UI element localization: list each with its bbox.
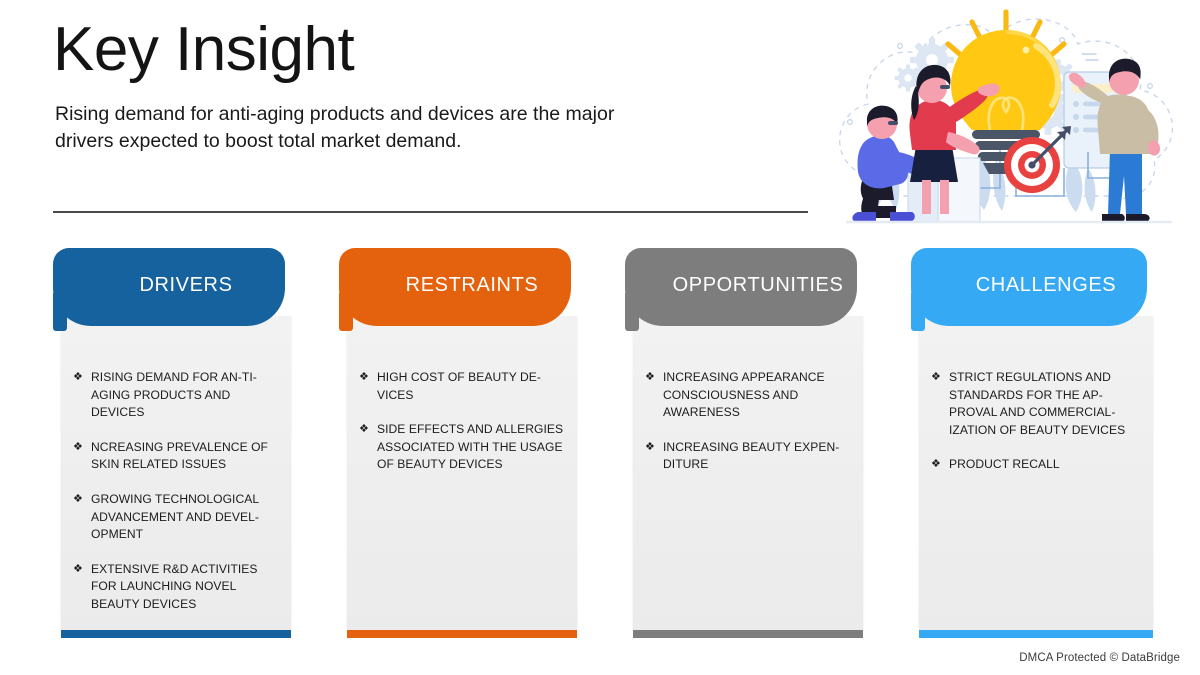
diamond-bullet-icon: ❖ [73,439,83,457]
card-drivers-title: DRIVERS [105,274,232,301]
diamond-bullet-icon: ❖ [931,456,941,474]
diamond-bullet-icon: ❖ [931,369,941,387]
header-divider [53,211,808,213]
card-opportunities-bullet-list: ❖ INCREASING APPEARANCE CONSCIOUSNESS AN… [645,369,855,491]
card-drivers-bullet-list: ❖ RISING DEMAND FOR AN-TI-AGING PRODUCTS… [73,369,283,630]
diamond-bullet-icon: ❖ [73,491,83,509]
list-item: ❖ PRODUCT RECALL [931,456,1145,474]
card-opportunities-bottom-bar [633,630,863,638]
lightbulb-teamwork-illustration [820,0,1200,240]
list-item-text: PRODUCT RECALL [949,457,1060,471]
list-item-text: SIDE EFFECTS AND ALLERGIES ASSOCIATED WI… [377,422,563,471]
card-drivers[interactable]: DRIVERS ❖ RISING DEMAND FOR AN-TI-AGING … [53,248,291,638]
list-item-text: NCREASING PREVALENCE OF SKIN RELATED ISS… [91,440,268,472]
page-subtitle: Rising demand for anti-aging products an… [55,101,635,155]
list-item-text: STRICT REGULATIONS AND STANDARDS FOR THE… [949,370,1125,437]
card-challenges-header[interactable]: CHALLENGES [911,248,1147,326]
list-item: ❖ GROWING TECHNOLOGICAL ADVANCEMENT AND … [73,491,283,544]
list-item: ❖ SIDE EFFECTS AND ALLERGIES ASSOCIATED … [359,421,569,474]
diamond-bullet-icon: ❖ [359,421,369,439]
card-challenges-title: CHALLENGES [942,274,1117,301]
list-item: ❖ STRICT REGULATIONS AND STANDARDS FOR T… [931,369,1145,439]
diamond-bullet-icon: ❖ [359,369,369,387]
diamond-bullet-icon: ❖ [645,439,655,457]
list-item-text: GROWING TECHNOLOGICAL ADVANCEMENT AND DE… [91,492,259,541]
card-drivers-body: ❖ RISING DEMAND FOR AN-TI-AGING PRODUCTS… [61,316,291,630]
list-item-text: INCREASING BEAUTY EXPEN-DITURE [663,440,839,472]
card-restraints-title: RESTRAINTS [372,274,539,301]
list-item-text: EXTENSIVE R&D ACTIVITIES FOR LAUNCHING N… [91,562,258,611]
list-item: ❖ HIGH COST OF BEAUTY DE-VICES [359,369,569,404]
card-drivers-header[interactable]: DRIVERS [53,248,285,326]
diamond-bullet-icon: ❖ [645,369,655,387]
card-restraints[interactable]: RESTRAINTS ❖ HIGH COST OF BEAUTY DE-VICE… [339,248,577,638]
list-item-text: INCREASING APPEARANCE CONSCIOUSNESS AND … [663,370,825,419]
list-item-text: HIGH COST OF BEAUTY DE-VICES [377,370,541,402]
card-drivers-bottom-bar [61,630,291,638]
diamond-bullet-icon: ❖ [73,561,83,579]
card-challenges-bottom-bar [919,630,1153,638]
slide-canvas: Key Insight Rising demand for anti-aging… [0,0,1200,675]
page-title: Key Insight [53,14,354,86]
card-challenges-bullet-list: ❖ STRICT REGULATIONS AND STANDARDS FOR T… [931,369,1145,491]
list-item: ❖ INCREASING APPEARANCE CONSCIOUSNESS AN… [645,369,855,422]
card-restraints-bottom-bar [347,630,577,638]
list-item: ❖ NCREASING PREVALENCE OF SKIN RELATED I… [73,439,283,474]
card-challenges[interactable]: CHALLENGES ❖ STRICT REGULATIONS AND STAN… [911,248,1149,638]
card-restraints-bullet-list: ❖ HIGH COST OF BEAUTY DE-VICES ❖ SIDE EF… [359,369,569,491]
list-item: ❖ INCREASING BEAUTY EXPEN-DITURE [645,439,855,474]
list-item: ❖ RISING DEMAND FOR AN-TI-AGING PRODUCTS… [73,369,283,422]
dmca-footer-note: DMCA Protected © DataBridge [1019,652,1180,664]
diamond-bullet-icon: ❖ [73,369,83,387]
card-challenges-body: ❖ STRICT REGULATIONS AND STANDARDS FOR T… [919,316,1153,630]
card-restraints-header[interactable]: RESTRAINTS [339,248,571,326]
list-item-text: RISING DEMAND FOR AN-TI-AGING PRODUCTS A… [91,370,257,419]
card-opportunities[interactable]: OPPORTUNITIES ❖ INCREASING APPEARANCE CO… [625,248,863,638]
card-opportunities-header[interactable]: OPPORTUNITIES [625,248,857,326]
card-opportunities-title: OPPORTUNITIES [639,274,844,301]
card-restraints-body: ❖ HIGH COST OF BEAUTY DE-VICES ❖ SIDE EF… [347,316,577,630]
list-item: ❖ EXTENSIVE R&D ACTIVITIES FOR LAUNCHING… [73,561,283,614]
card-opportunities-body: ❖ INCREASING APPEARANCE CONSCIOUSNESS AN… [633,316,863,630]
